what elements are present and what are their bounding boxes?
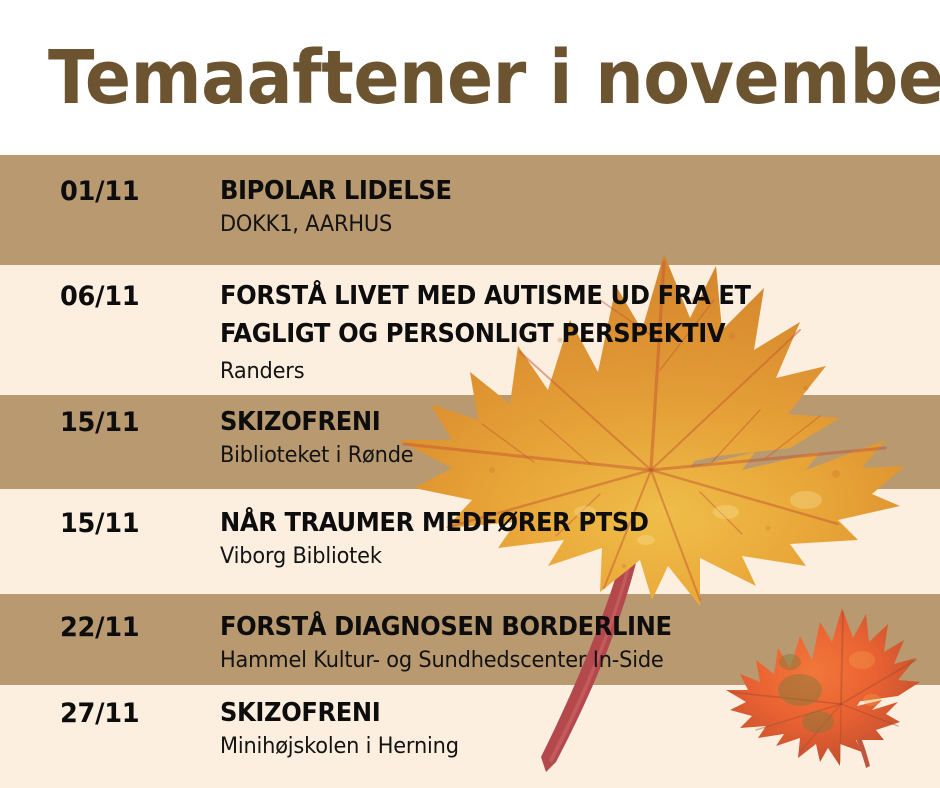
event-date: 01/11 — [60, 176, 212, 207]
event-info: FORSTÅ DIAGNOSEN BORDERLINE Hammel Kultu… — [220, 612, 940, 675]
event-date: 27/11 — [60, 698, 212, 729]
event-info: SKIZOFRENI Biblioteket i Rønde — [220, 407, 940, 470]
schedule-row-2[interactable]: 06/11 FORSTÅ LIVET MED AUTISME UD FRA ET… — [0, 281, 940, 387]
schedule-row-6[interactable]: 27/11 SKIZOFRENI Minihøjskolen i Herning — [0, 698, 940, 761]
event-venue: Hammel Kultur- og Sundhedscenter In-Side — [220, 647, 904, 676]
schedule-row-3[interactable]: 15/11 SKIZOFRENI Biblioteket i Rønde — [0, 407, 940, 470]
header: Temaaftener i november — [0, 0, 940, 155]
event-venue: Randers — [220, 358, 904, 387]
schedule-row-4[interactable]: 15/11 NÅR TRAUMER MEDFØRER PTSD Viborg B… — [0, 508, 940, 571]
event-venue: Viborg Bibliotek — [220, 543, 904, 572]
event-info: BIPOLAR LIDELSE DOKK1, AARHUS — [220, 176, 940, 239]
event-title: NÅR TRAUMER MEDFØRER PTSD — [220, 508, 890, 540]
event-title: FORSTÅ LIVET MED AUTISME UD FRA ET — [220, 281, 890, 313]
event-venue: DOKK1, AARHUS — [220, 211, 904, 240]
event-date: 06/11 — [60, 281, 212, 312]
event-title-line2: FAGLIGT OG PERSONLIGT PERSPEKTIV — [220, 319, 890, 351]
page-title: Temaaftener i november — [48, 41, 940, 115]
schedule-row-5[interactable]: 22/11 FORSTÅ DIAGNOSEN BORDERLINE Hammel… — [0, 612, 940, 675]
event-title: SKIZOFRENI — [220, 698, 890, 730]
event-date: 22/11 — [60, 612, 212, 643]
schedule-row-1[interactable]: 01/11 BIPOLAR LIDELSE DOKK1, AARHUS — [0, 176, 940, 239]
poster: Temaaftener i november 01/11 BIPOLAR LID… — [0, 0, 940, 788]
event-title: SKIZOFRENI — [220, 407, 890, 439]
event-date: 15/11 — [60, 407, 212, 438]
event-title: FORSTÅ DIAGNOSEN BORDERLINE — [220, 612, 890, 644]
event-date: 15/11 — [60, 508, 212, 539]
event-title: BIPOLAR LIDELSE — [220, 176, 890, 208]
event-venue: Biblioteket i Rønde — [220, 442, 904, 471]
event-info: FORSTÅ LIVET MED AUTISME UD FRA ET FAGLI… — [220, 281, 940, 387]
event-info: SKIZOFRENI Minihøjskolen i Herning — [220, 698, 940, 761]
event-info: NÅR TRAUMER MEDFØRER PTSD Viborg Bibliot… — [220, 508, 940, 571]
event-venue: Minihøjskolen i Herning — [220, 733, 904, 762]
